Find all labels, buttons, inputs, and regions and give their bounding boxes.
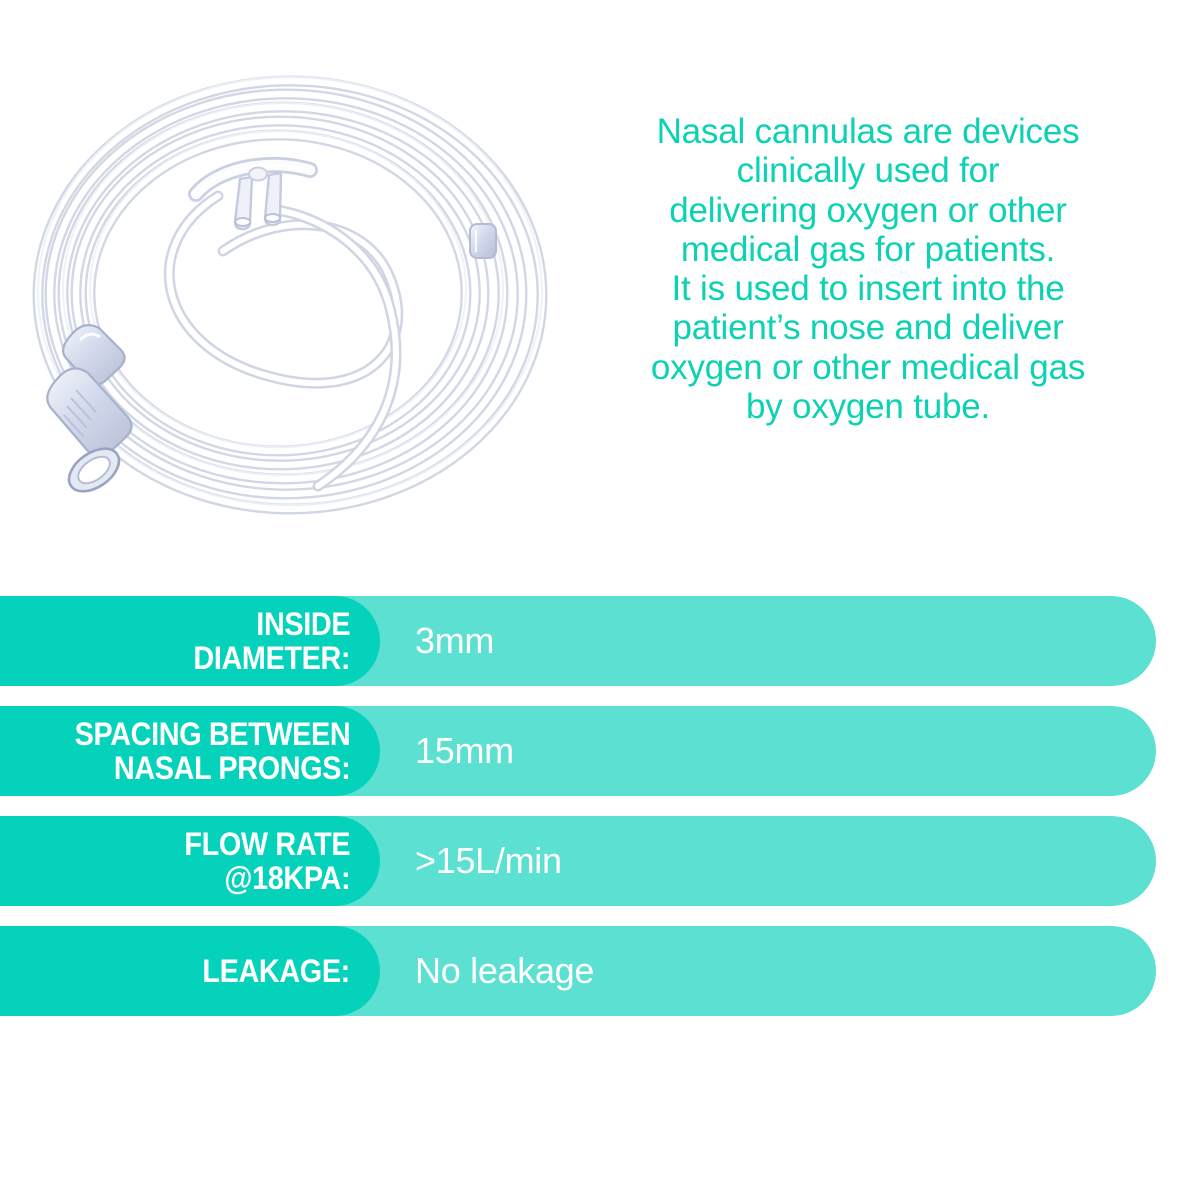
product-hero-section: Nasal cannulas are devices clinically us… bbox=[0, 0, 1200, 560]
description-line: delivering oxygen or other bbox=[612, 191, 1124, 230]
description-line: patient’s nose and deliver bbox=[612, 308, 1124, 347]
spec-label: INSIDE DIAMETER: bbox=[193, 607, 350, 675]
description-line: oxygen or other medical gas bbox=[612, 348, 1124, 387]
spec-row-spacing-between-nasal-prongs: SPACING BETWEEN NASAL PRONGS: 15mm bbox=[0, 706, 1200, 796]
description-line: It is used to insert into the bbox=[612, 269, 1124, 308]
description-line: by oxygen tube. bbox=[612, 387, 1124, 426]
spec-value: 3mm bbox=[415, 596, 494, 686]
spec-row-leakage: LEAKAGE: No leakage bbox=[0, 926, 1200, 1016]
spec-label-block: INSIDE DIAMETER: bbox=[0, 596, 380, 686]
description-line: medical gas for patients. bbox=[612, 230, 1124, 269]
description-line: clinically used for bbox=[612, 151, 1124, 190]
product-description: Nasal cannulas are devices clinically us… bbox=[612, 112, 1124, 426]
spec-label: FLOW RATE @18KPA: bbox=[184, 827, 350, 895]
specifications-table: INSIDE DIAMETER: 3mm SPACING BETWEEN NAS… bbox=[0, 596, 1200, 1016]
spec-label: LEAKAGE: bbox=[202, 954, 350, 988]
spec-label-block: SPACING BETWEEN NASAL PRONGS: bbox=[0, 706, 380, 796]
spec-row-flow-rate: FLOW RATE @18KPA: >15L/min bbox=[0, 816, 1200, 906]
spec-label-block: FLOW RATE @18KPA: bbox=[0, 816, 380, 906]
nasal-cannula-product-image bbox=[18, 46, 566, 524]
spec-label: SPACING BETWEEN NASAL PRONGS: bbox=[74, 717, 350, 785]
spec-value: 15mm bbox=[415, 706, 514, 796]
spec-value: >15L/min bbox=[415, 816, 562, 906]
spec-label-block: LEAKAGE: bbox=[0, 926, 380, 1016]
spec-value: No leakage bbox=[415, 926, 594, 1016]
description-line: Nasal cannulas are devices bbox=[612, 112, 1124, 151]
spec-row-inside-diameter: INSIDE DIAMETER: 3mm bbox=[0, 596, 1200, 686]
